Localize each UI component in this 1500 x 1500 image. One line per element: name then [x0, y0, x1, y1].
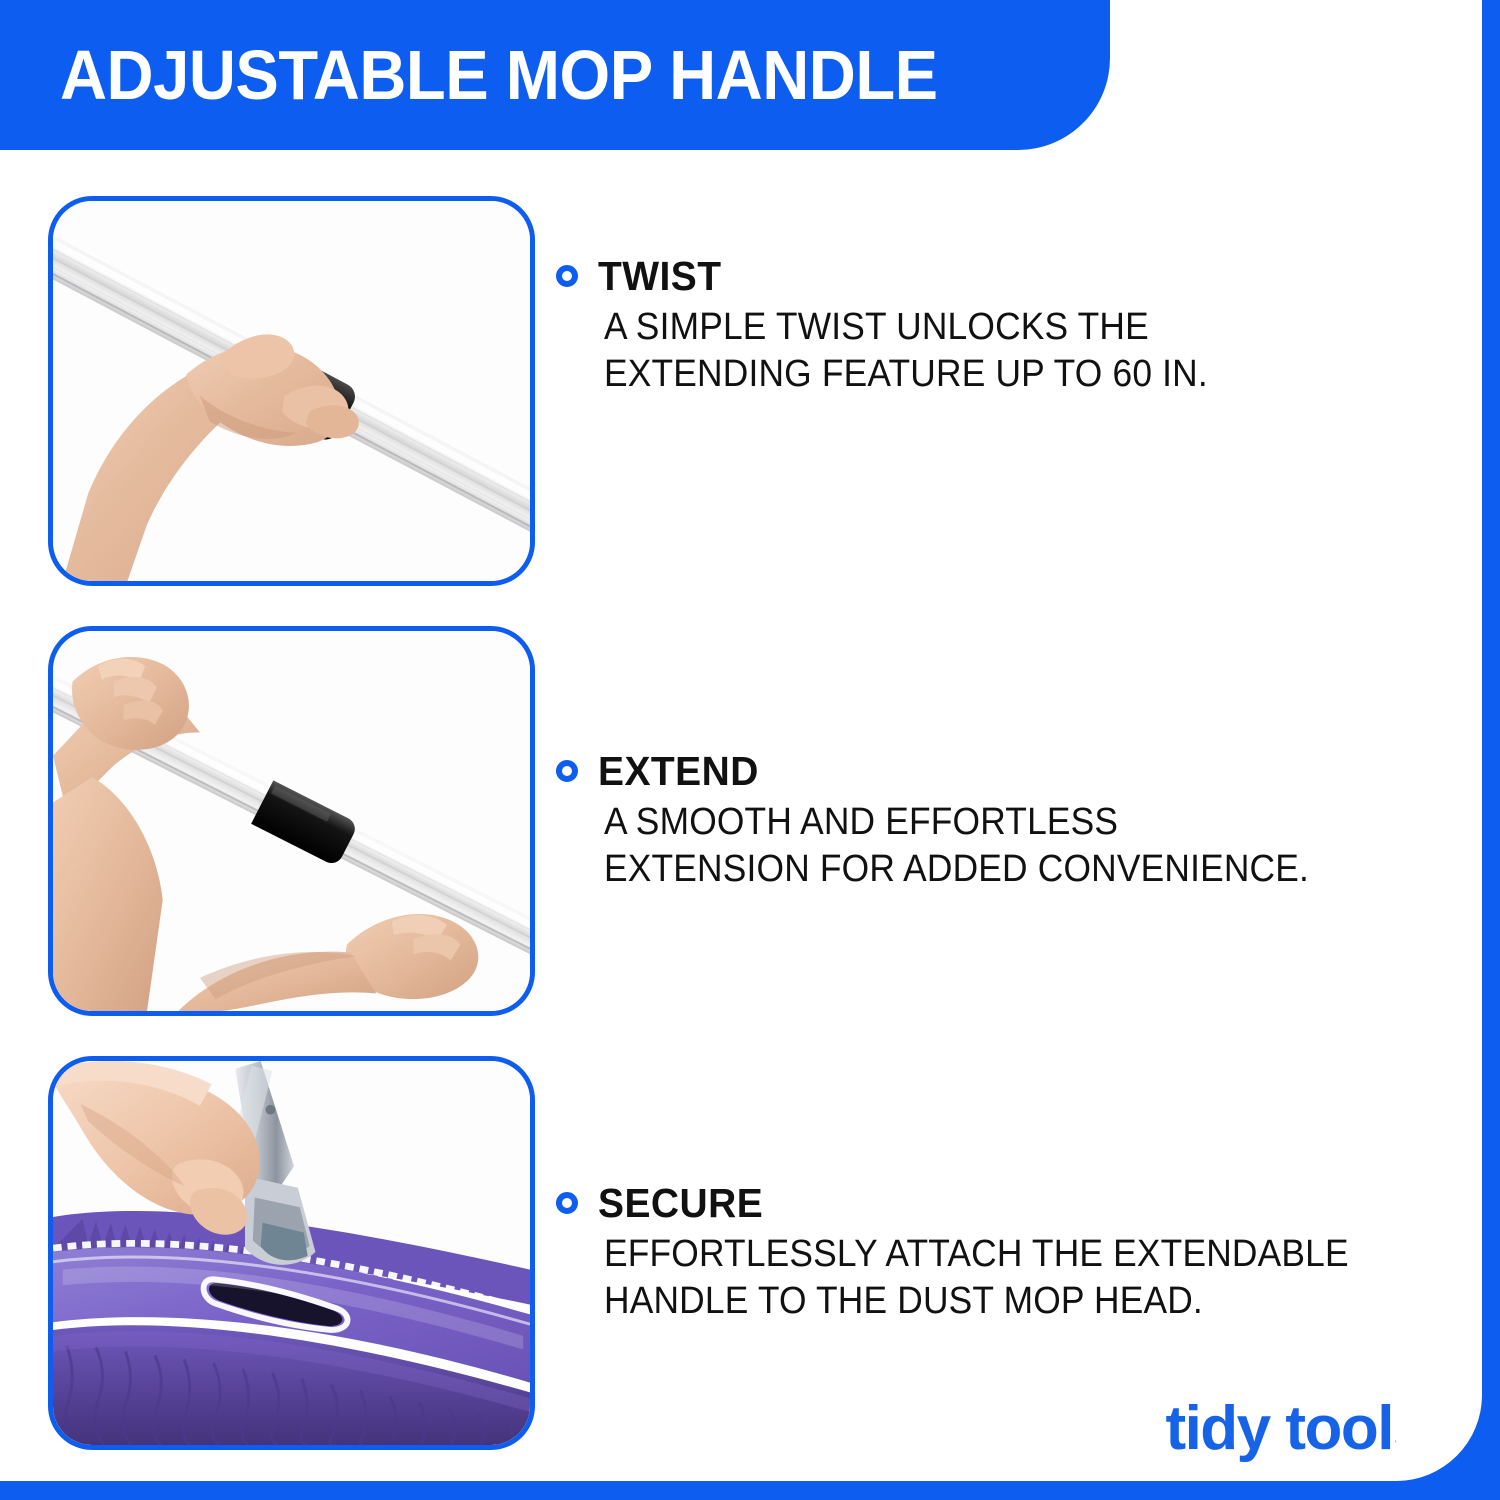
feature-heading: TWIST — [598, 254, 722, 298]
infographic-canvas: ADJUSTABLE MOP HANDLE — [0, 0, 1500, 1500]
ring-bullet-icon — [556, 760, 578, 782]
brand-logo-text: tidy tools — [1165, 1398, 1426, 1460]
feature-heading-line: EXTEND — [556, 749, 1436, 793]
text-column-extend: EXTEND A SMOOTH AND EFFORTLESS EXTENSION… — [556, 626, 1436, 1016]
feature-heading-line: SECURE — [556, 1181, 1436, 1225]
text-column-twist: TWIST A SIMPLE TWIST UNLOCKS THE EXTENDI… — [556, 196, 1436, 586]
feature-heading: SECURE — [598, 1181, 763, 1225]
right-edge-accent — [1482, 0, 1500, 1500]
photo-extend — [53, 631, 530, 1011]
photo-secure — [53, 1061, 530, 1445]
photo-card-twist — [48, 196, 535, 586]
feature-row-extend: EXTEND A SMOOTH AND EFFORTLESS EXTENSION… — [0, 626, 1482, 1016]
illustration-extend — [53, 631, 530, 1011]
photo-card-extend — [48, 626, 535, 1016]
bottom-right-corner-accent — [1396, 1395, 1482, 1481]
illustration-secure — [53, 1061, 530, 1445]
page-title: ADJUSTABLE MOP HANDLE — [60, 40, 938, 110]
feature-body: A SIMPLE TWIST UNLOCKS THE EXTENDING FEA… — [604, 304, 1378, 398]
text-column-secure: SECURE EFFORTLESSLY ATTACH THE EXTENDABL… — [556, 1056, 1436, 1450]
feature-row-twist: TWIST A SIMPLE TWIST UNLOCKS THE EXTENDI… — [0, 196, 1482, 586]
ring-bullet-icon — [556, 265, 578, 287]
feature-body: A SMOOTH AND EFFORTLESS EXTENSION FOR AD… — [604, 799, 1378, 893]
header-banner: ADJUSTABLE MOP HANDLE — [0, 0, 1110, 150]
feature-row-secure: SECURE EFFORTLESSLY ATTACH THE EXTENDABL… — [0, 1056, 1482, 1450]
ring-bullet-icon — [556, 1192, 578, 1214]
bottom-edge-accent — [0, 1481, 1500, 1500]
feature-heading-line: TWIST — [556, 254, 1436, 298]
photo-twist — [53, 201, 530, 581]
feature-heading: EXTEND — [598, 749, 759, 793]
illustration-twist — [53, 201, 530, 581]
photo-card-secure — [48, 1056, 535, 1450]
feature-body: EFFORTLESSLY ATTACH THE EXTENDABLE HANDL… — [604, 1231, 1378, 1325]
